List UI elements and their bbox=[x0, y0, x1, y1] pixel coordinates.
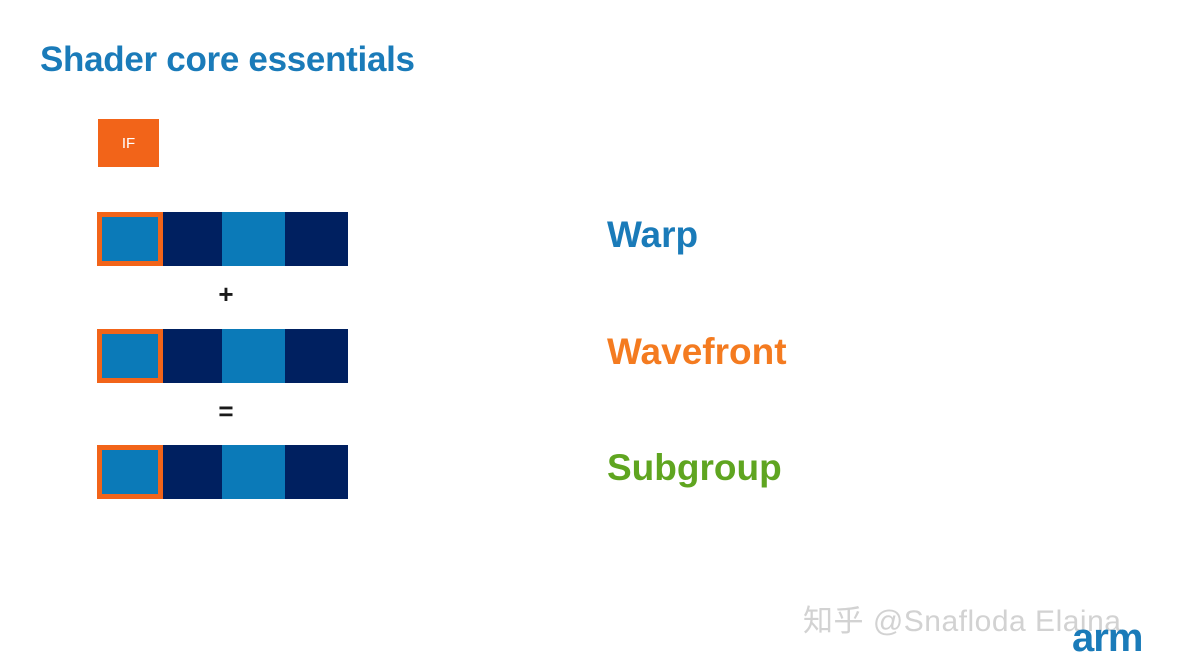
if-block: IF bbox=[98, 119, 159, 167]
arm-logo: arm bbox=[1072, 618, 1142, 658]
lane-segment-inactive bbox=[163, 445, 222, 499]
lane-segment-inactive bbox=[285, 212, 348, 266]
lane-segment-active bbox=[97, 445, 163, 499]
page-title: Shader core essentials bbox=[40, 40, 415, 80]
lane-segment-inactive bbox=[285, 445, 348, 499]
label-wavefront: Wavefront bbox=[607, 333, 787, 370]
warp-bar bbox=[97, 212, 348, 266]
label-subgroup: Subgroup bbox=[607, 449, 782, 486]
lane-segment-active bbox=[222, 445, 285, 499]
lane-segment-inactive bbox=[163, 329, 222, 383]
slide-canvas: Shader core essentials IF + = Warp Wavef… bbox=[0, 0, 1193, 667]
label-warp: Warp bbox=[607, 216, 698, 253]
plus-operator: + bbox=[205, 281, 247, 307]
lane-segment-active bbox=[222, 329, 285, 383]
lane-segment-inactive bbox=[163, 212, 222, 266]
lane-segment-active bbox=[222, 212, 285, 266]
lane-segment-active bbox=[97, 212, 163, 266]
wavefront-bar bbox=[97, 329, 348, 383]
if-block-label: IF bbox=[122, 135, 135, 152]
equals-operator: = bbox=[205, 398, 247, 424]
subgroup-bar bbox=[97, 445, 348, 499]
lane-segment-inactive bbox=[285, 329, 348, 383]
lane-segment-active bbox=[97, 329, 163, 383]
